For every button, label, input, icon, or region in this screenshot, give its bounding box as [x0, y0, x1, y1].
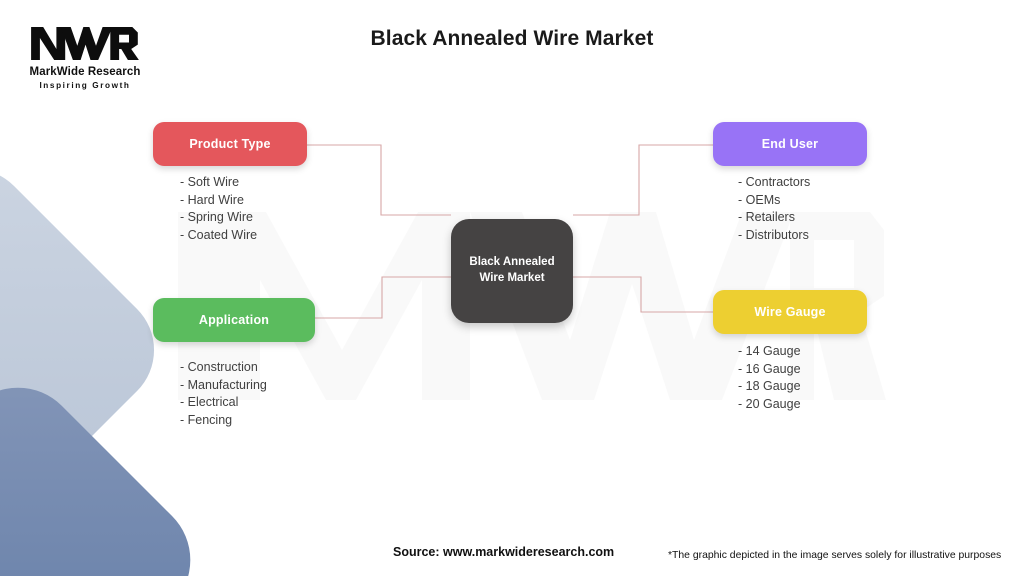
list-item: - Fencing	[180, 412, 267, 430]
list-item: - Construction	[180, 359, 267, 377]
list-item: - 20 Gauge	[738, 396, 801, 414]
branch-node-wire-gauge[interactable]: Wire Gauge	[713, 290, 867, 334]
list-item: - Retailers	[738, 209, 810, 227]
branch-list-product-type: - Soft Wire - Hard Wire - Spring Wire - …	[180, 174, 257, 244]
brand-name: MarkWide Research	[17, 67, 153, 79]
branch-node-end-user[interactable]: End User	[713, 122, 867, 166]
branch-list-wire-gauge: - 14 Gauge - 16 Gauge - 18 Gauge - 20 Ga…	[738, 343, 801, 413]
branch-list-application: - Construction - Manufacturing - Electri…	[180, 359, 267, 429]
branch-node-application[interactable]: Application	[153, 298, 315, 342]
list-item: - Soft Wire	[180, 174, 257, 192]
branch-label-product-type: Product Type	[189, 137, 270, 151]
list-item: - Distributors	[738, 227, 810, 245]
center-node[interactable]: Black Annealed Wire Market	[451, 219, 573, 323]
list-item: - 16 Gauge	[738, 361, 801, 379]
decorative-shape-light	[0, 145, 178, 555]
list-item: - Spring Wire	[180, 209, 257, 227]
branch-label-wire-gauge: Wire Gauge	[754, 305, 825, 319]
branch-node-product-type[interactable]: Product Type	[153, 122, 307, 166]
branch-label-end-user: End User	[762, 137, 818, 151]
brand-tagline: Inspiring Growth	[17, 82, 153, 90]
list-item: - 18 Gauge	[738, 378, 801, 396]
page-title: Black Annealed Wire Market	[0, 27, 1024, 51]
list-item: - OEMs	[738, 192, 810, 210]
center-node-label: Black Annealed Wire Market	[451, 255, 573, 286]
list-item: - 14 Gauge	[738, 343, 801, 361]
branch-list-end-user: - Contractors - OEMs - Retailers - Distr…	[738, 174, 810, 244]
list-item: - Hard Wire	[180, 192, 257, 210]
list-item: - Coated Wire	[180, 227, 257, 245]
list-item: - Electrical	[180, 394, 267, 412]
disclaimer-note: *The graphic depicted in the image serve…	[668, 550, 1001, 561]
list-item: - Manufacturing	[180, 377, 267, 395]
list-item: - Contractors	[738, 174, 810, 192]
source-credit: Source: www.markwideresearch.com	[393, 545, 614, 559]
branch-label-application: Application	[199, 313, 269, 327]
infographic-canvas: MarkWide Research Inspiring Growth Black…	[0, 0, 1024, 576]
